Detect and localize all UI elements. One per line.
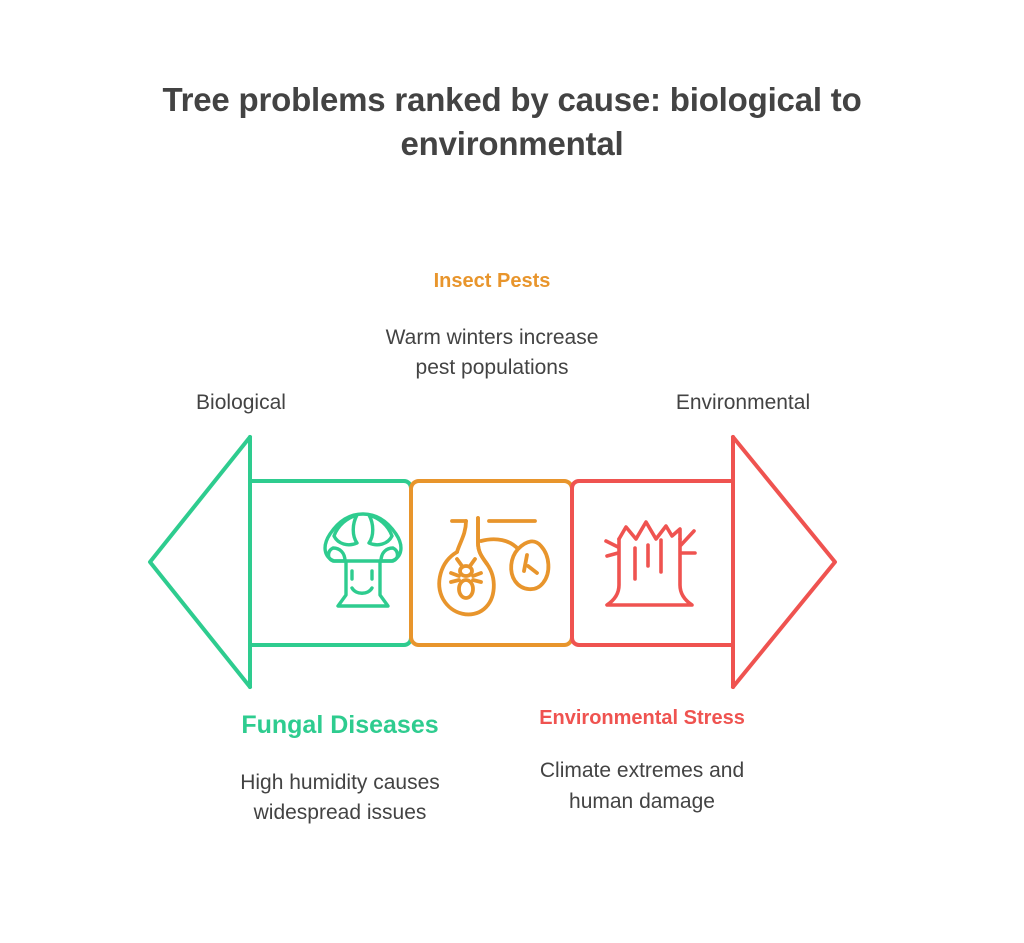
scale-label-environmental: Environmental <box>642 388 844 417</box>
scale-label-biological-text: Biological <box>140 388 342 417</box>
segment-envstress-description: Climate extremes and human damage <box>533 756 751 817</box>
spectrum-diagram: Biological Environmental Insect Pests Wa… <box>0 0 1024 943</box>
envstress-box <box>572 481 733 645</box>
tree-stump-icon <box>606 522 695 605</box>
segment-envstress-heading: Environmental Stress <box>533 703 751 733</box>
fungal-box <box>250 481 411 645</box>
segment-envstress-text: Environmental Stress Climate extremes an… <box>533 703 751 817</box>
mushroom-icon <box>325 514 401 606</box>
scale-label-biological: Biological <box>140 388 342 417</box>
scale-label-environmental-text: Environmental <box>642 388 844 417</box>
right-arrowhead <box>733 437 835 687</box>
segment-fungal-description: High humidity causes widespread issues <box>232 768 448 829</box>
segment-fungal-heading: Fungal Diseases <box>232 705 448 746</box>
segment-fungal-text: Fungal Diseases High humidity causes wid… <box>232 705 448 829</box>
segment-insect-description: Warm winters increase pest populations <box>381 323 603 384</box>
segment-insect-heading: Insect Pests <box>381 267 603 297</box>
segment-insect-text: Insect Pests Warm winters increase pest … <box>381 267 603 384</box>
left-arrowhead <box>150 437 250 687</box>
insect-gall-icon <box>439 518 548 614</box>
spectrum-arrow-graphic <box>0 0 1024 943</box>
